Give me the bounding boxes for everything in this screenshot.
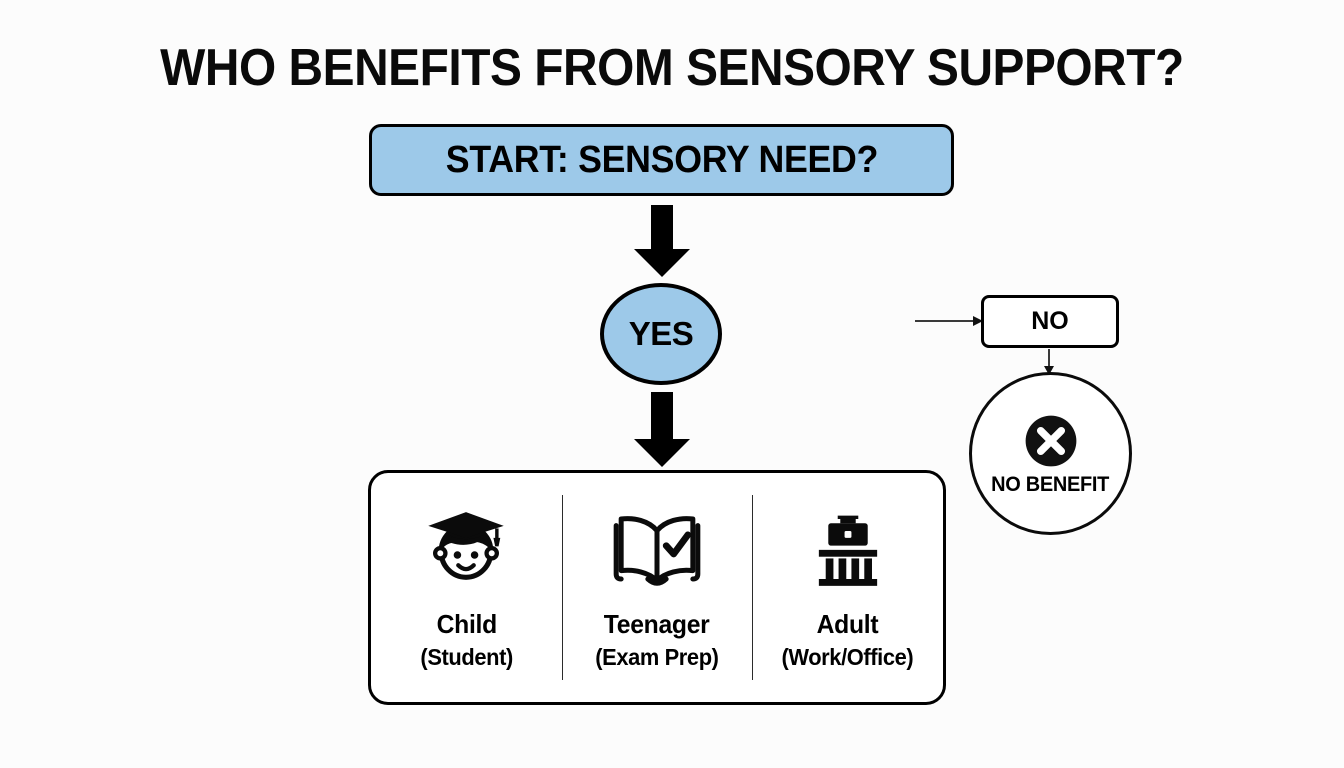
- arrow-yes-to-beneficiaries-icon: [634, 392, 690, 470]
- arrow-shaft: [651, 392, 673, 440]
- beneficiary-child-label: Child: [436, 609, 496, 640]
- arrow-branch-to-no-icon: [915, 320, 983, 322]
- beneficiary-teenager[interactable]: Teenager (Exam Prep): [562, 473, 753, 702]
- beneficiary-adult[interactable]: Adult (Work/Office): [752, 473, 943, 702]
- beneficiary-child-sublabel: (Student): [420, 644, 512, 671]
- beneficiary-child[interactable]: Child (Student): [371, 473, 562, 702]
- start-node[interactable]: START: SENSORY NEED?: [369, 124, 954, 196]
- no-benefit-node[interactable]: NO BENEFIT: [969, 372, 1132, 535]
- no-benefit-label: NO BENEFIT: [992, 473, 1110, 497]
- arrow-start-to-yes-icon: [634, 205, 690, 277]
- beneficiaries-panel: Child (Student) Tee: [368, 470, 946, 705]
- open-book-check-icon: [611, 503, 703, 595]
- yes-node-label: YES: [629, 315, 694, 353]
- no-node-label: NO: [1031, 307, 1069, 336]
- arrow-head: [634, 249, 690, 277]
- arrow-head: [634, 439, 690, 467]
- beneficiary-teenager-label: Teenager: [604, 609, 710, 640]
- x-circle-icon: [1024, 414, 1078, 468]
- diagram-canvas: WHO BENEFITS FROM SENSORY SUPPORT? START…: [0, 0, 1344, 768]
- no-node[interactable]: NO: [981, 295, 1119, 348]
- briefcase-office-icon: [805, 503, 891, 595]
- beneficiary-adult-sublabel: (Work/Office): [782, 644, 914, 671]
- arrow-shaft: [651, 205, 673, 250]
- beneficiary-teenager-sublabel: (Exam Prep): [595, 644, 718, 671]
- start-node-label: START: SENSORY NEED?: [445, 139, 877, 182]
- graduate-child-icon: [423, 503, 509, 595]
- arrow-line: [915, 320, 975, 322]
- page-title: WHO BENEFITS FROM SENSORY SUPPORT?: [54, 38, 1290, 98]
- beneficiary-adult-label: Adult: [817, 609, 879, 640]
- yes-node[interactable]: YES: [600, 283, 722, 385]
